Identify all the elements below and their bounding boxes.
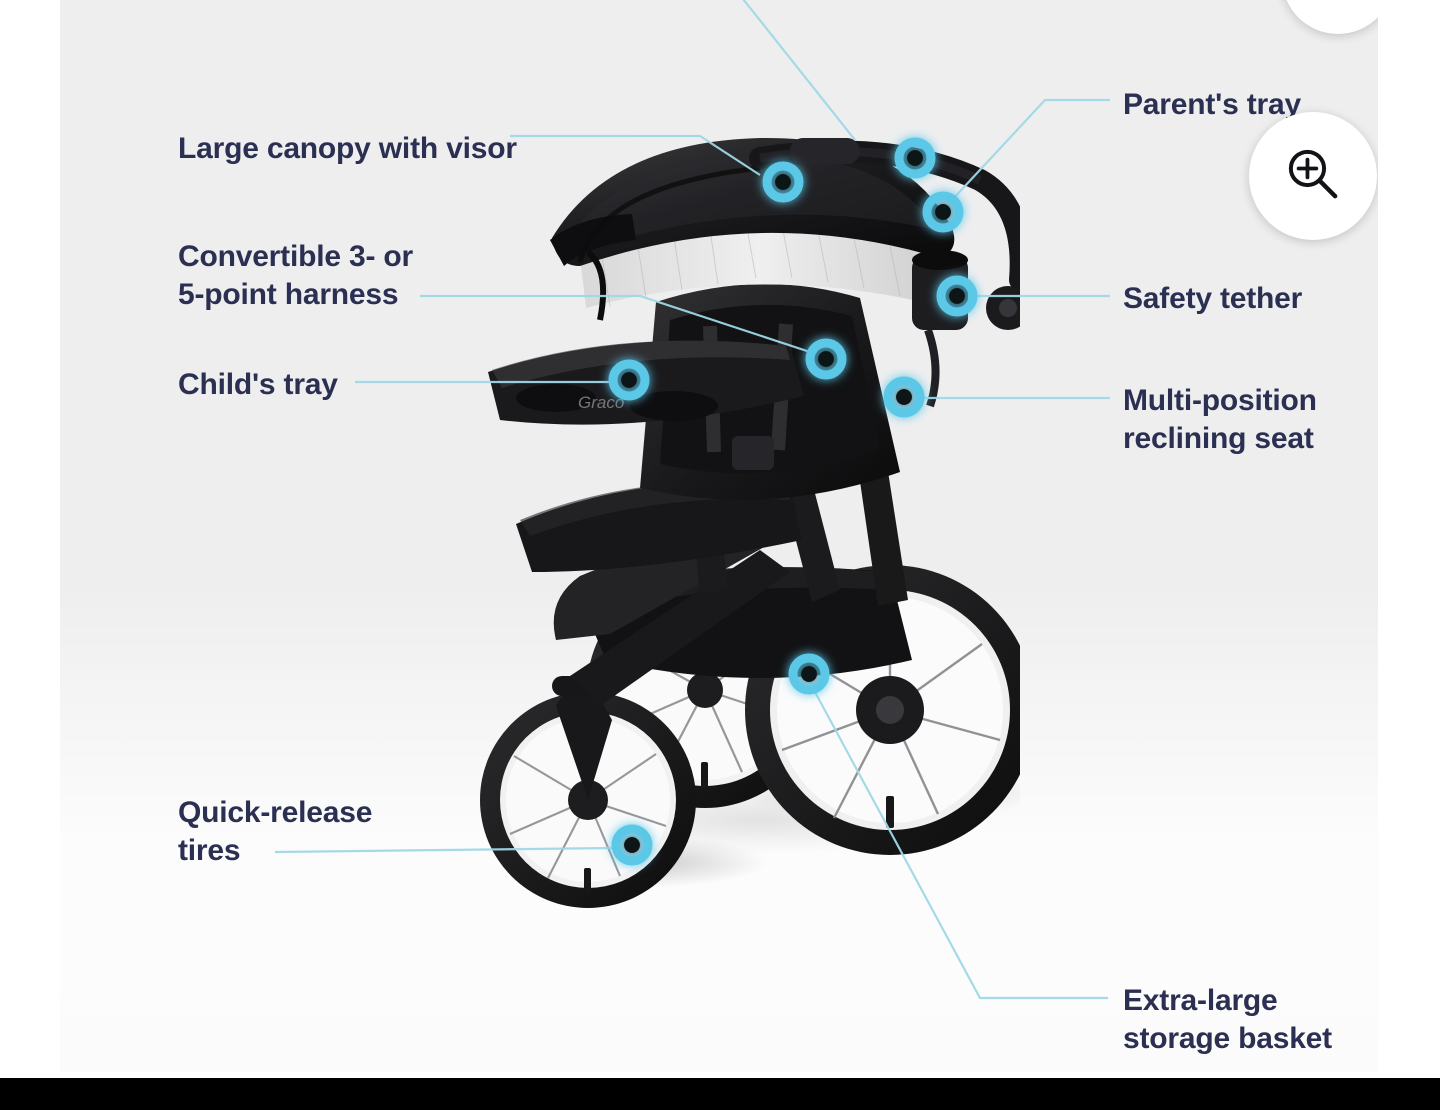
callout-label-quick-release-tires[interactable]: Quick-release tires (178, 794, 372, 871)
hotspot-childs-tray (613, 364, 645, 396)
hotspot-cut-off-top (899, 142, 931, 174)
callout-label-extra-large-storage-basket[interactable]: Extra-large storage basket (1123, 982, 1332, 1059)
magnifier-minus-icon (1310, 0, 1366, 9)
zoom-in-button[interactable] (1249, 112, 1377, 240)
hotspot-convertible-harness (810, 343, 842, 375)
hotspot-extra-large-storage-basket (793, 658, 825, 690)
hotspot-parents-tray (927, 196, 959, 228)
hotspot-safety-tether (941, 280, 973, 312)
hotspot-quick-release-tires (616, 829, 648, 861)
product-canvas[interactable]: Graco (60, 0, 1378, 1072)
callout-label-childs-tray[interactable]: Child's tray (178, 366, 338, 404)
callout-label-safety-tether[interactable]: Safety tether (1123, 280, 1302, 318)
callout-label-convertible-harness[interactable]: Convertible 3- or 5-point harness (178, 238, 413, 315)
callout-label-multi-position-reclining-seat[interactable]: Multi-position reclining seat (1123, 382, 1317, 459)
hotspot-multi-position-reclining-seat (888, 381, 920, 413)
connector-extra-large-storage-basket (815, 692, 1108, 998)
product-feature-viewer: Graco (0, 0, 1440, 1110)
connector-convertible-harness (420, 296, 810, 352)
connector-cut-off-top (720, 0, 855, 140)
connector-parents-tray (952, 100, 1110, 200)
letterbox-bar (0, 1078, 1440, 1110)
magnifier-plus-icon (1282, 143, 1344, 210)
callout-label-parents-tray[interactable]: Parent's tray (1123, 86, 1301, 124)
connector-large-canopy-with-visor (510, 136, 760, 175)
callout-label-large-canopy-with-visor[interactable]: Large canopy with visor (178, 130, 517, 168)
hotspot-large-canopy-with-visor (767, 166, 799, 198)
